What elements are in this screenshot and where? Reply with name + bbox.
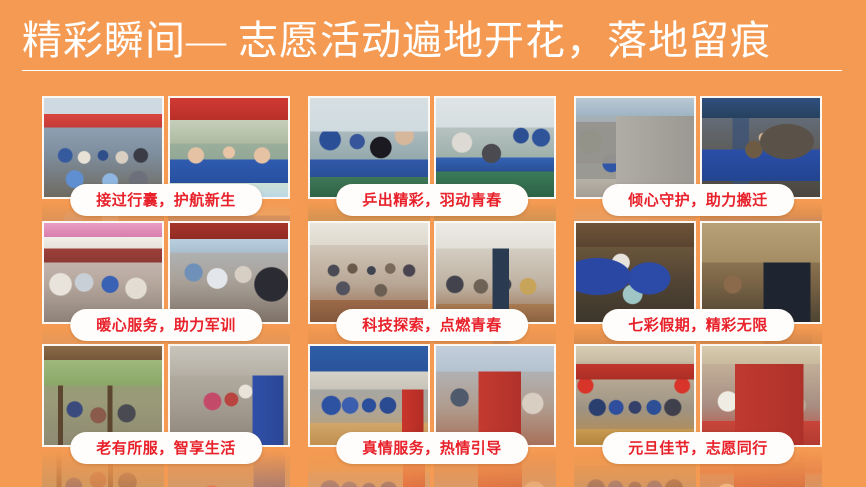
- page-title: 精彩瞬间— 志愿活动遍地开花，落地留痕: [22, 14, 842, 71]
- photo-image: [310, 223, 428, 322]
- photo-caption: 倾心守护，助力搬迁: [602, 184, 794, 216]
- photo-image: [170, 98, 288, 197]
- photo-group[interactable]: 倾心守护，助力搬迁: [574, 96, 822, 214]
- photo-image: [310, 98, 428, 197]
- photo-group[interactable]: 暖心服务，助力军训: [42, 221, 290, 339]
- photo-image: [44, 98, 162, 197]
- photo-group[interactable]: 老有所服，智享生活: [42, 344, 290, 462]
- photo-image: [44, 346, 162, 445]
- photo-image: [576, 346, 694, 445]
- photo-image: [170, 223, 288, 322]
- photo-image: [702, 98, 820, 197]
- photo-caption: 七彩假期，精彩无限: [602, 309, 794, 341]
- photo-image: [702, 346, 820, 445]
- photo-caption: 真情服务，热情引导: [336, 432, 528, 464]
- photo-group[interactable]: 科技探索，点燃青春: [308, 221, 556, 339]
- photo-image: [170, 346, 288, 445]
- photo-image: [702, 223, 820, 322]
- photo-image: [44, 223, 162, 322]
- photo-image: [436, 223, 554, 322]
- photo-image: [310, 346, 428, 445]
- photo-image: [436, 98, 554, 197]
- photo-caption: 接过行囊，护航新生: [70, 184, 262, 216]
- photo-caption: 暖心服务，助力军训: [70, 309, 262, 341]
- photo-image: [436, 346, 554, 445]
- photo-caption: 乒出精彩，羽动青春: [336, 184, 528, 216]
- photo-image: [576, 223, 694, 322]
- photo-caption: 老有所服，智享生活: [70, 432, 262, 464]
- photo-group[interactable]: 接过行囊，护航新生: [42, 96, 290, 214]
- photo-group[interactable]: 真情服务，热情引导: [308, 344, 556, 462]
- photo-group[interactable]: 乒出精彩，羽动青春: [308, 96, 556, 214]
- photo-caption: 元旦佳节，志愿同行: [602, 432, 794, 464]
- photo-image: [576, 98, 694, 197]
- photo-grid: 接过行囊，护航新生 乒出精彩，羽动青春 倾心守护，助力搬迁: [0, 92, 866, 487]
- photo-caption: 科技探索，点燃青春: [336, 309, 528, 341]
- photo-group[interactable]: 七彩假期，精彩无限: [574, 221, 822, 339]
- photo-group[interactable]: 元旦佳节，志愿同行: [574, 344, 822, 462]
